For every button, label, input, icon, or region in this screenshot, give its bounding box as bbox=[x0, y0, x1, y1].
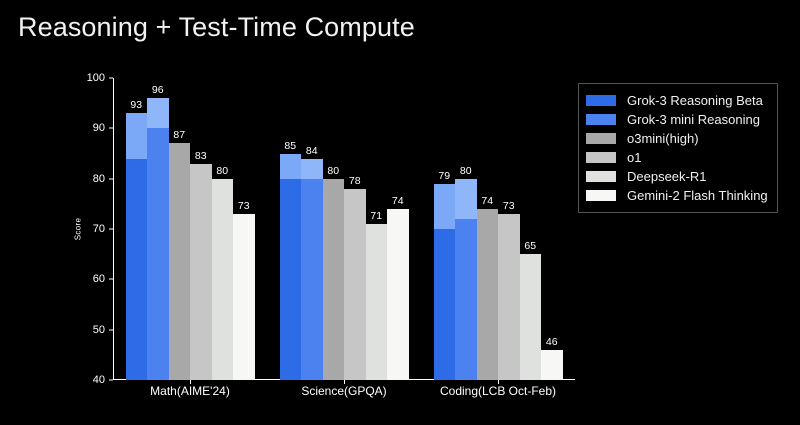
bar-segment-base bbox=[233, 214, 255, 380]
bar-value-label: 74 bbox=[481, 195, 493, 207]
bar-segment-top bbox=[280, 154, 302, 179]
bar-value-label: 83 bbox=[195, 150, 207, 162]
y-tick-mark bbox=[109, 128, 113, 129]
bar-value-label: 80 bbox=[460, 165, 472, 177]
x-tick-label: Science(GPQA) bbox=[301, 384, 386, 398]
bar-segment-base bbox=[366, 224, 388, 380]
y-tick-label: 80 bbox=[93, 173, 105, 185]
bar-value-label: 78 bbox=[349, 175, 361, 187]
bar[interactable]: 96 bbox=[147, 98, 169, 380]
bar-value-label: 46 bbox=[546, 336, 558, 348]
x-tick-mark bbox=[344, 380, 345, 384]
bar[interactable]: 74 bbox=[477, 209, 499, 380]
bar[interactable]: 93 bbox=[126, 113, 148, 380]
slide-root: Reasoning + Test-Time Compute Score 4050… bbox=[0, 0, 800, 425]
bar-value-label: 79 bbox=[438, 170, 450, 182]
bar-value-label: 73 bbox=[503, 200, 515, 212]
bar-segment-base bbox=[477, 209, 499, 380]
bar[interactable]: 87 bbox=[169, 143, 191, 380]
bar[interactable]: 65 bbox=[520, 254, 542, 380]
bar-group: 798074736546 bbox=[434, 78, 563, 380]
bar-segment-base bbox=[323, 179, 345, 380]
y-axis-line bbox=[113, 78, 114, 380]
legend-item-label: o1 bbox=[627, 151, 641, 164]
bar-value-label: 85 bbox=[284, 140, 296, 152]
bar-value-label: 71 bbox=[370, 210, 382, 222]
bar[interactable]: 84 bbox=[301, 159, 323, 380]
bar-value-label: 65 bbox=[524, 240, 536, 252]
bar-segment-base bbox=[455, 219, 477, 380]
bar-segment-base bbox=[434, 229, 456, 380]
bar-value-label: 74 bbox=[392, 195, 404, 207]
bar-segment-base bbox=[147, 128, 169, 380]
legend-item[interactable]: Grok-3 Reasoning Beta bbox=[586, 91, 768, 110]
legend-swatch-icon bbox=[586, 152, 616, 163]
bar-group: 858480787174 bbox=[280, 78, 409, 380]
y-tick-mark bbox=[109, 329, 113, 330]
y-tick-mark bbox=[109, 279, 113, 280]
bar-segment-base bbox=[387, 209, 409, 380]
bar[interactable]: 80 bbox=[455, 179, 477, 380]
y-tick-label: 50 bbox=[93, 324, 105, 336]
bar[interactable]: 71 bbox=[366, 224, 388, 380]
y-tick-label: 40 bbox=[93, 374, 105, 386]
y-tick-label: 100 bbox=[87, 72, 105, 84]
x-tick-mark bbox=[498, 380, 499, 384]
x-tick-mark bbox=[190, 380, 191, 384]
bar-segment-base bbox=[190, 164, 212, 380]
legend-item-label: Gemini-2 Flash Thinking bbox=[627, 189, 768, 202]
bar[interactable]: 79 bbox=[434, 184, 456, 380]
y-tick-mark bbox=[109, 78, 113, 79]
bar[interactable]: 46 bbox=[541, 350, 563, 380]
bar-segment-base bbox=[520, 254, 542, 380]
bar-value-label: 80 bbox=[216, 165, 228, 177]
bar[interactable]: 73 bbox=[233, 214, 255, 380]
bar[interactable]: 83 bbox=[190, 164, 212, 380]
bar-segment-base bbox=[541, 350, 563, 380]
y-axis-label: Score bbox=[74, 218, 83, 240]
y-tick-label: 90 bbox=[93, 122, 105, 134]
page-title: Reasoning + Test-Time Compute bbox=[18, 12, 415, 43]
bar-group: 939687838073 bbox=[126, 78, 255, 380]
legend-item-label: o3mini(high) bbox=[627, 132, 699, 145]
chart-legend: Grok-3 Reasoning BetaGrok-3 mini Reasoni… bbox=[578, 83, 778, 213]
legend-item[interactable]: Gemini-2 Flash Thinking bbox=[586, 186, 768, 205]
bar-segment-top bbox=[147, 98, 169, 128]
x-tick-label: Math(AIME'24) bbox=[150, 384, 230, 398]
bar[interactable]: 80 bbox=[212, 179, 234, 380]
bar-segment-top bbox=[434, 184, 456, 229]
bar[interactable]: 85 bbox=[280, 154, 302, 381]
y-tick-label: 70 bbox=[93, 223, 105, 235]
bar-segment-base bbox=[169, 143, 191, 380]
chart-plot-area: 405060708090100 939687838073858480787174… bbox=[113, 78, 575, 380]
bar-segment-top bbox=[455, 179, 477, 219]
y-tick-label: 60 bbox=[93, 273, 105, 285]
legend-item[interactable]: o3mini(high) bbox=[586, 129, 768, 148]
y-tick-mark bbox=[109, 380, 113, 381]
bar[interactable]: 73 bbox=[498, 214, 520, 380]
bar-value-label: 96 bbox=[152, 84, 164, 96]
bar-value-label: 73 bbox=[238, 200, 250, 212]
bar-value-label: 87 bbox=[173, 129, 185, 141]
y-tick-mark bbox=[109, 229, 113, 230]
y-tick-mark bbox=[109, 178, 113, 179]
legend-item-label: Grok-3 Reasoning Beta bbox=[627, 94, 763, 107]
bar-value-label: 93 bbox=[130, 99, 142, 111]
bar-value-label: 84 bbox=[306, 145, 318, 157]
bar-segment-base bbox=[344, 189, 366, 380]
legend-item[interactable]: Deepseek-R1 bbox=[586, 167, 768, 186]
bar-segment-top bbox=[301, 159, 323, 179]
x-tick-label: Coding(LCB Oct-Feb) bbox=[440, 384, 556, 398]
legend-swatch-icon bbox=[586, 190, 616, 201]
legend-item-label: Grok-3 mini Reasoning bbox=[627, 113, 760, 126]
legend-swatch-icon bbox=[586, 95, 616, 106]
bar-segment-base bbox=[126, 159, 148, 380]
legend-swatch-icon bbox=[586, 133, 616, 144]
bar-value-label: 80 bbox=[327, 165, 339, 177]
bar[interactable]: 80 bbox=[323, 179, 345, 380]
bar[interactable]: 78 bbox=[344, 189, 366, 380]
bar[interactable]: 74 bbox=[387, 209, 409, 380]
legend-swatch-icon bbox=[586, 114, 616, 125]
legend-item[interactable]: Grok-3 mini Reasoning bbox=[586, 110, 768, 129]
bar-segment-base bbox=[280, 179, 302, 380]
bar-segment-base bbox=[212, 179, 234, 380]
legend-item-label: Deepseek-R1 bbox=[627, 170, 707, 183]
legend-swatch-icon bbox=[586, 171, 616, 182]
bar-segment-top bbox=[126, 113, 148, 158]
legend-item[interactable]: o1 bbox=[586, 148, 768, 167]
bar-segment-base bbox=[301, 179, 323, 380]
bar-segment-base bbox=[498, 214, 520, 380]
